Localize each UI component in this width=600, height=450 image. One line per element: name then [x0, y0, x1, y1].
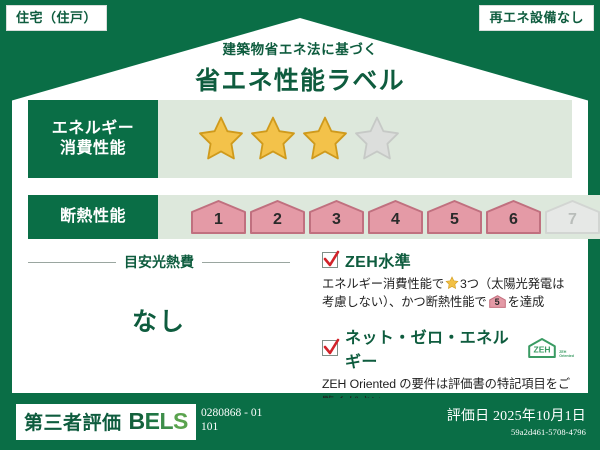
- certificate-id: 0280868 - 01 101: [201, 406, 262, 435]
- insulation-level-1: 1: [190, 199, 247, 235]
- badge-renewable-equipment: 再エネ設備なし: [479, 5, 594, 31]
- star-filled-icon: [248, 115, 298, 163]
- insulation-level-6: 6: [485, 199, 542, 235]
- desc-text-part3: を達成: [508, 295, 545, 309]
- energy-label-line1: エネルギー: [52, 119, 135, 139]
- energy-performance-label: 住宅（住戸） 再エネ設備なし 建築物省エネ法に基づく 省エネ性能ラベル エネルギ…: [0, 0, 600, 450]
- checkbox-zeh-standard[interactable]: [322, 252, 338, 268]
- evaluation-date: 評価日 2025年10月1日: [447, 405, 586, 425]
- insulation-level-5: 5: [426, 199, 483, 235]
- star-filled-icon: [300, 115, 350, 163]
- insulation-level-number: 5: [426, 199, 483, 235]
- check-line-net-zero-energy: ネット・ゼロ・エネルギー ZEH ZEH Oriented: [322, 324, 574, 372]
- insulation-level-number: 4: [367, 199, 424, 235]
- checkbox-net-zero-energy[interactable]: [322, 340, 338, 356]
- insulation-level-7: 7: [544, 199, 600, 235]
- label-footer: 第三者評価 BELS 0280868 - 01 101 評価日 2025年10月…: [0, 398, 600, 450]
- insulation-scale: 1234567: [158, 199, 600, 235]
- zeh-sub-line2: Oriented: [559, 354, 574, 358]
- star-empty-icon: [352, 115, 402, 163]
- footer-right-info: 評価日 2025年10月1日 59a2d461-5708-4796: [447, 405, 586, 437]
- insulation-level-number: 3: [308, 199, 365, 235]
- title-main: 省エネ性能ラベル: [0, 61, 600, 97]
- energy-label-line2: 消費性能: [52, 139, 135, 159]
- insulation-level-2: 2: [249, 199, 306, 235]
- insulation-body: 1234567: [158, 195, 600, 239]
- checkmark-icon: [323, 338, 340, 357]
- desc-text-part1: エネルギー消費性能で: [322, 277, 444, 291]
- bels-letter: L: [159, 408, 173, 434]
- star-filled-icon: [196, 115, 246, 163]
- inline-house-number: 5: [489, 295, 506, 308]
- insulation-row: 断熱性能 1234567: [28, 195, 572, 239]
- check-block-zeh-standard: ZEH水準 エネルギー消費性能で3つ（太陽光発電は考慮しない）、かつ断熱性能で5…: [322, 248, 574, 312]
- insulation-level-3: 3: [308, 199, 365, 235]
- svg-text:ZEH: ZEH: [534, 344, 551, 354]
- insulation-level-number: 1: [190, 199, 247, 235]
- energy-consumption-row: エネルギー 消費性能: [28, 100, 572, 178]
- zeh-house-icon: ZEH: [527, 337, 557, 359]
- serial-number: 59a2d461-5708-4796: [447, 427, 586, 437]
- check-desc-zeh-standard: エネルギー消費性能で3つ（太陽光発電は考慮しない）、かつ断熱性能で5を達成: [322, 275, 574, 312]
- check-title-zeh-standard: ZEH水準: [345, 248, 411, 272]
- zeh-logo-subtext: ZEH Oriented: [559, 350, 574, 359]
- badge-building-type: 住宅（住戸）: [6, 5, 107, 31]
- zeh-logo: ZEH ZEH Oriented: [527, 337, 574, 359]
- utility-cost-heading-row: 目安光熱費: [28, 252, 290, 272]
- insulation-level-number: 2: [249, 199, 306, 235]
- checkmark-icon: [323, 250, 340, 269]
- check-title-net-zero-energy: ネット・ゼロ・エネルギー: [345, 324, 517, 372]
- insulation-level-4: 4: [367, 199, 424, 235]
- insulation-level-number: 7: [544, 199, 600, 235]
- utility-cost-value: なし: [28, 302, 290, 338]
- title-subtitle: 建築物省エネ法に基づく: [0, 38, 600, 58]
- inline-star-icon: [445, 276, 459, 290]
- star-rating: [158, 115, 402, 163]
- bels-letter: S: [173, 408, 188, 434]
- bels-logo: 第三者評価 BELS: [16, 404, 196, 440]
- bels-english-text: BELS: [129, 410, 188, 433]
- bels-letter: B: [129, 408, 145, 434]
- label-title: 建築物省エネ法に基づく 省エネ性能ラベル: [0, 38, 600, 97]
- certificate-id-line2: 101: [201, 420, 262, 434]
- certificate-id-line1: 0280868 - 01: [201, 406, 262, 420]
- utility-cost-heading: 目安光熱費: [124, 252, 194, 272]
- inline-house-badge-5: 5: [489, 295, 506, 308]
- insulation-level-number: 6: [485, 199, 542, 235]
- bels-japanese-text: 第三者評価: [24, 408, 122, 435]
- energy-consumption-label: エネルギー 消費性能: [28, 100, 158, 178]
- insulation-label: 断熱性能: [28, 195, 158, 239]
- rule-right: [202, 262, 290, 263]
- zeh-sub-line1: ZEH: [559, 350, 566, 354]
- bels-letter: E: [145, 408, 160, 434]
- energy-consumption-body: [158, 100, 572, 178]
- utility-cost-panel: 目安光熱費 なし: [28, 252, 290, 338]
- rule-left: [28, 262, 116, 263]
- check-line-zeh-standard: ZEH水準: [322, 248, 574, 272]
